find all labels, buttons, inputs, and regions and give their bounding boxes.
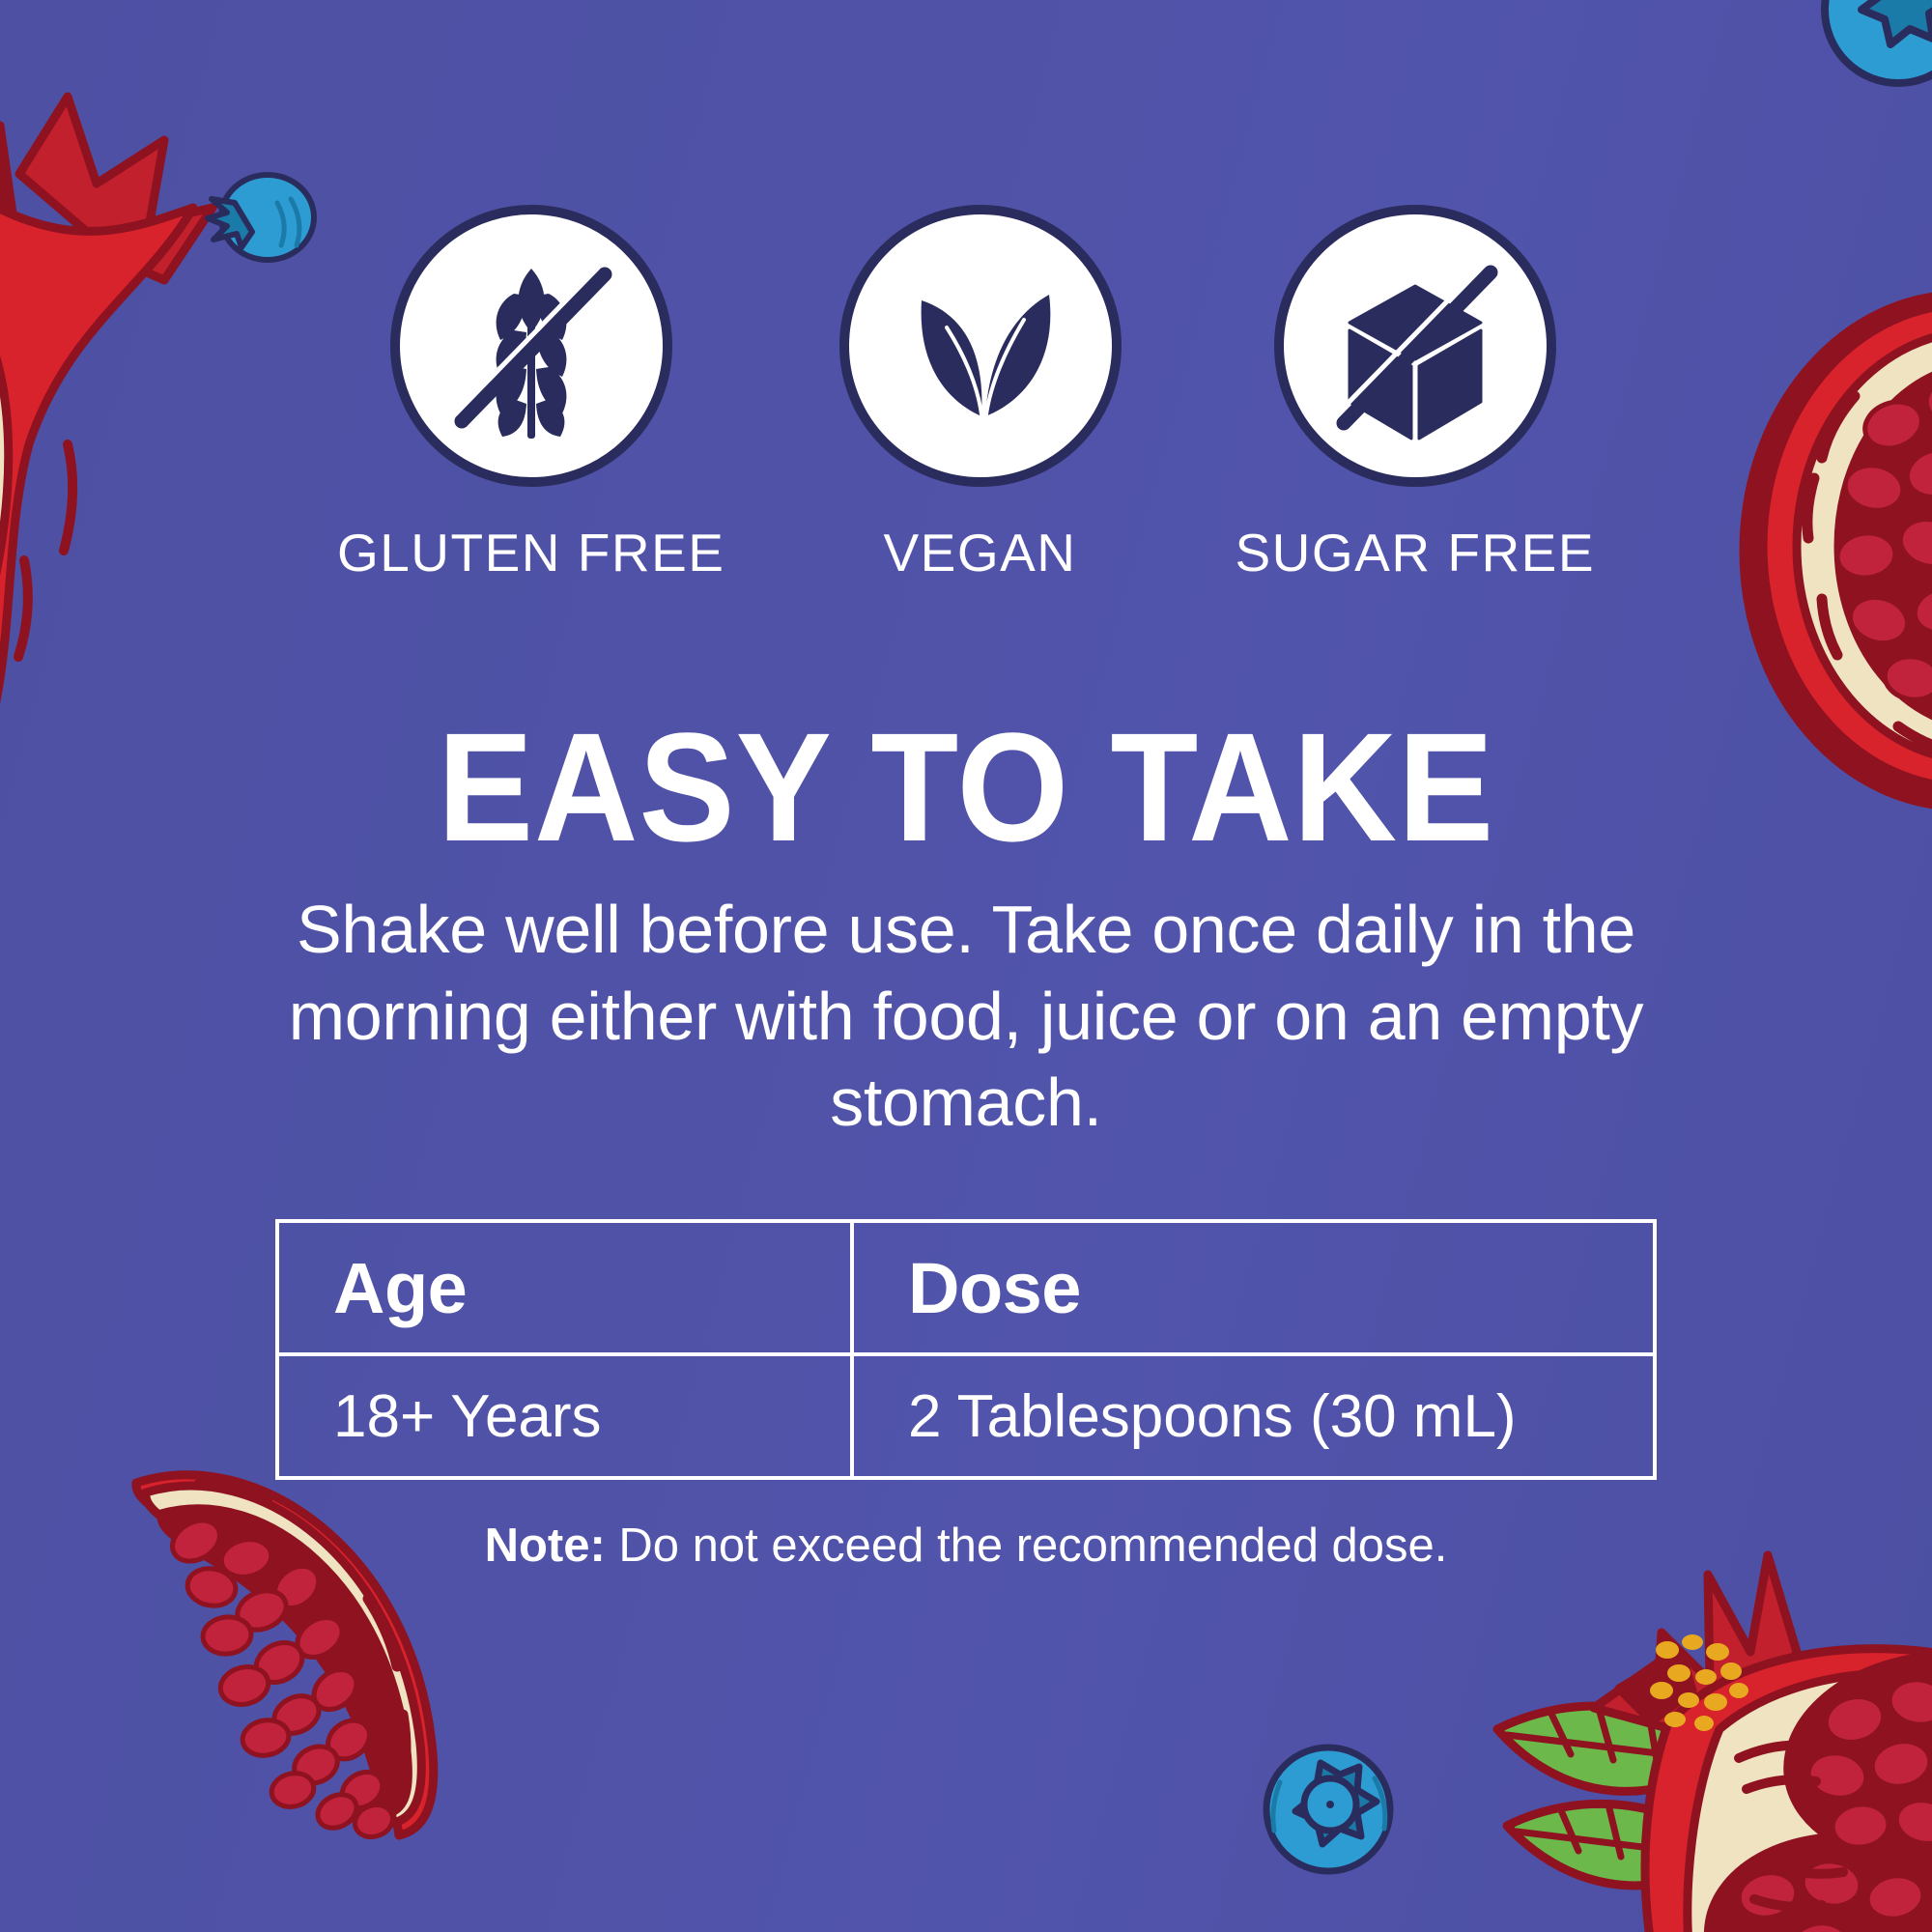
note-label: Note: — [485, 1520, 606, 1572]
dose-note: Note: Do not exceed the recommended dose… — [0, 1519, 1932, 1573]
pomegranate-half-bottom-right — [1478, 1536, 1932, 1932]
table-header-row: Age Dose — [277, 1221, 1655, 1354]
note-text: Do not exceed the recommended dose. — [606, 1520, 1448, 1572]
table-cell-age: 18+ Years — [277, 1354, 852, 1478]
badge-gluten-free[interactable]: GLUTEN FREE — [337, 205, 725, 583]
table-header-dose: Dose — [852, 1221, 1655, 1354]
usage-description: Shake well before use. Take once daily i… — [251, 887, 1681, 1147]
badge-label-gluten-free: GLUTEN FREE — [337, 522, 725, 583]
blueberry-bottom-center — [1251, 1744, 1406, 1898]
blueberry-top-right — [1821, 0, 1932, 116]
leaves-icon — [889, 254, 1072, 438]
table-header-age: Age — [277, 1221, 852, 1354]
pomegranate-wedge-bottom-left — [92, 1425, 478, 1869]
badge-vegan[interactable]: VEGAN — [839, 205, 1122, 583]
badge-label-vegan: VEGAN — [883, 522, 1076, 583]
certification-badges: GLUTEN FREE VEGAN — [0, 205, 1932, 583]
badge-circle-sugar-free — [1274, 205, 1556, 487]
section-headline: EASY TO TAKE — [68, 710, 1864, 865]
product-label-panel: GLUTEN FREE VEGAN — [0, 0, 1932, 1932]
table-row: 18+ Years 2 Tablespoons (30 mL) — [277, 1354, 1655, 1478]
badge-sugar-free[interactable]: SUGAR FREE — [1236, 205, 1596, 583]
badge-circle-vegan — [839, 205, 1122, 487]
badge-label-sugar-free: SUGAR FREE — [1236, 522, 1596, 583]
sugar-cube-crossed-icon — [1319, 249, 1512, 442]
table-cell-dose: 2 Tablespoons (30 mL) — [852, 1354, 1655, 1478]
badge-circle-gluten-free — [390, 205, 672, 487]
wheat-crossed-icon — [435, 249, 628, 442]
dose-table: Age Dose 18+ Years 2 Tablespoons (30 mL) — [275, 1219, 1657, 1480]
